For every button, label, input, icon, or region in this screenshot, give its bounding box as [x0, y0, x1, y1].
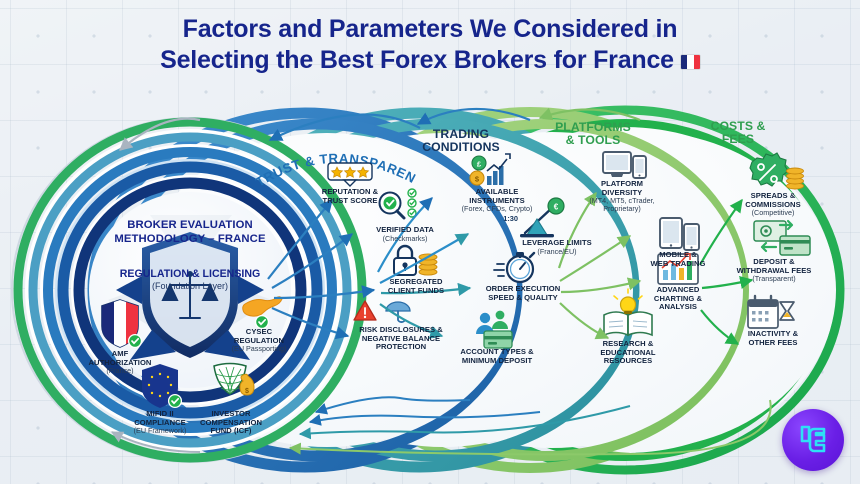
trust-item-reputation-l2: TRUST SCORE	[323, 196, 378, 205]
costs-item-deposit-sub: (Transparent)	[712, 275, 836, 283]
platforms-item-charting-l3: ANALYSIS	[659, 302, 697, 311]
trading-item-account-types-l2: MINIMUM DEPOSIT	[462, 356, 532, 365]
platforms-item-diversity-sub2: Proprietary)	[603, 204, 641, 213]
core-item-cysec[interactable]: CySEC REGULATION (EU Passporting)	[204, 328, 314, 353]
svg-text:1:30: 1:30	[503, 214, 518, 223]
france-flag-icon	[681, 55, 700, 69]
platforms-item-charting[interactable]: ADVANCED CHARTING & ANALYSIS	[620, 286, 736, 312]
trust-item-segregated-funds[interactable]: SEGREGATED CLIENT FUNDS	[356, 278, 476, 295]
core-heading: BROKER EVALUATION METHODOLOGY – FRANCE	[70, 218, 310, 246]
costs-item-spreads[interactable]: SPREADS & COMMISSIONS (Competitive)	[714, 192, 832, 217]
title-line-2: Selecting the Best Forex Brokers for Fra…	[160, 46, 674, 74]
core-item-amf[interactable]: AMF AUTHORIZATION (France)	[60, 350, 180, 375]
ring-label-costs: COSTS & FEES	[688, 120, 788, 146]
trust-item-segregated-funds-l2: CLIENT FUNDS	[388, 286, 444, 295]
trust-item-reputation[interactable]: REPUTATION & TRUST SCORE	[290, 188, 410, 205]
core-badge-label: REGULATION & LICENSING (Foundation Layer…	[70, 268, 310, 292]
trust-item-risk-disclosures-l3: PROTECTION	[376, 342, 426, 351]
ring-label-trading-l2: CONDITIONS	[406, 141, 516, 154]
ring-label-platforms: PLATFORMS & TOOLS	[535, 121, 651, 147]
trading-item-instruments-sub: (Forex, CFDs, Crypto)	[434, 205, 560, 213]
ring-label-trading: TRADING CONDITIONS	[406, 128, 516, 154]
core-badge-title: REGULATION & LICENSING	[70, 268, 310, 281]
core-item-cysec-sub: (EU Passporting)	[204, 345, 314, 353]
trust-item-verified-data[interactable]: VERIFIED DATA (Checkmarks)	[345, 226, 465, 243]
infographic-canvas: Factors and Parameters We Considered in …	[0, 0, 860, 484]
svg-text:$: $	[245, 388, 249, 395]
trading-item-leverage[interactable]: LEVERAGE LIMITS (France/EU)	[498, 239, 616, 256]
platforms-item-diversity[interactable]: PLATFORM DIVERSITY (MT4, MT5, cTrader, P…	[564, 180, 680, 213]
brand-logo-mark	[793, 420, 833, 460]
ring-label-costs-l2: FEES	[688, 133, 788, 146]
core-item-amf-sub: (France)	[60, 367, 180, 375]
core-item-icf-l3: FUND (ICF)	[211, 426, 252, 435]
trading-item-account-types[interactable]: ACCOUNT TYPES & MINIMUM DEPOSIT	[434, 348, 560, 365]
core-item-icf[interactable]: INVESTOR COMPENSATION FUND (ICF)	[176, 410, 286, 436]
page-title: Factors and Parameters We Considered in …	[0, 14, 860, 75]
trading-item-instruments[interactable]: AVAILABLE INSTRUMENTS (Forex, CFDs, Cryp…	[434, 188, 560, 213]
core-badge-sub: (Foundation Layer)	[70, 281, 310, 292]
platforms-item-research-l3: RESOURCES	[604, 356, 653, 365]
trust-item-verified-data-sub: (Checkmarks)	[345, 235, 465, 243]
brand-logo[interactable]	[782, 409, 844, 471]
platforms-item-research[interactable]: RESEARCH & EDUCATIONAL RESOURCES	[570, 340, 686, 366]
core-heading-l1: BROKER EVALUATION	[70, 218, 310, 232]
trading-item-execution-l2: SPEED & QUALITY	[488, 293, 558, 302]
costs-item-inactivity[interactable]: INACTIVITY & OTHER FEES	[714, 330, 832, 347]
platforms-item-mobile-web-l2: WEB TRADING	[651, 259, 706, 268]
core-heading-l2: METHODOLOGY – FRANCE	[70, 232, 310, 246]
costs-item-spreads-sub: (Competitive)	[714, 209, 832, 217]
costs-item-inactivity-l2: OTHER FEES	[748, 338, 797, 347]
costs-item-deposit-withdrawal[interactable]: DEPOSIT & WITHDRAWAL FEES (Transparent)	[712, 258, 836, 283]
trading-item-execution[interactable]: ORDER EXECUTION SPEED & QUALITY	[462, 285, 584, 302]
title-line-1: Factors and Parameters We Considered in	[183, 15, 678, 43]
ring-label-platforms-l2: & TOOLS	[535, 134, 651, 147]
trading-item-leverage-sub: (France/EU)	[498, 248, 616, 256]
